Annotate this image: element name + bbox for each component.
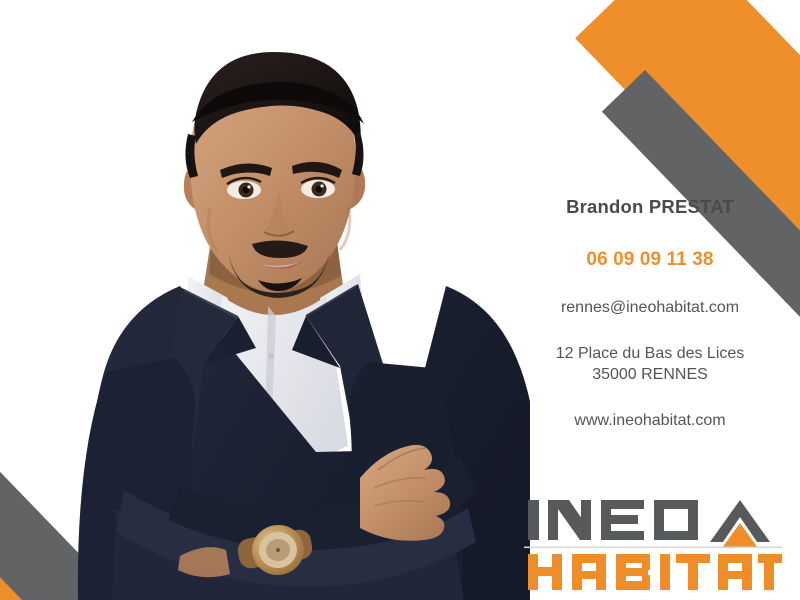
ineo-habitat-logo[interactable] <box>524 492 782 592</box>
business-card-banner: Brandon PRESTAT 06 09 09 11 38 rennes@in… <box>0 0 800 600</box>
logo-divider <box>524 547 782 549</box>
contact-phone[interactable]: 06 09 09 11 38 <box>500 249 800 271</box>
contact-name: Brandon PRESTAT <box>500 196 800 218</box>
contact-website[interactable]: www.ineohabitat.com <box>500 412 800 430</box>
roof-chevron-icon <box>710 500 770 548</box>
contact-address-line-1: 12 Place du Bas des Lices <box>500 343 800 364</box>
contact-details: Brandon PRESTAT 06 09 09 11 38 rennes@in… <box>500 196 800 430</box>
contact-address-line-2: 35000 RENNES <box>500 364 800 385</box>
portrait-photo <box>60 38 530 600</box>
contact-email[interactable]: rennes@ineohabitat.com <box>500 299 800 317</box>
logo-word-habitat <box>528 554 782 590</box>
logo-word-ineo <box>528 500 698 540</box>
